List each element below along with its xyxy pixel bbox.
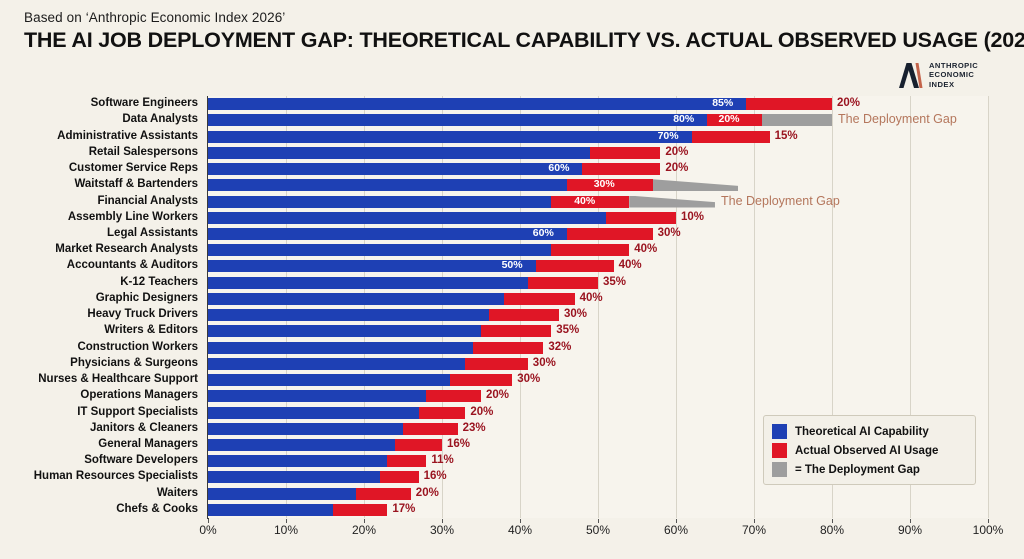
bar-theoretical-capability[interactable] <box>208 147 590 159</box>
x-tick-label: 60% <box>664 523 688 537</box>
x-tick-label: 10% <box>274 523 298 537</box>
bar-actual-usage[interactable] <box>387 455 426 467</box>
value-label-actual: 23% <box>463 422 486 435</box>
bar-theoretical-capability[interactable] <box>208 309 489 321</box>
legend-swatch-theoretical <box>772 424 787 439</box>
value-label-actual: 20% <box>837 97 860 110</box>
chart-subtitle: Based on ‘Anthropic Economic Index 2026’ <box>24 10 285 25</box>
value-label-actual: 20% <box>470 406 493 419</box>
brand-wordmark: ANTHROPIC ECONOMIC INDEX <box>929 61 978 89</box>
x-tick-label: 80% <box>820 523 844 537</box>
value-label-actual: 30% <box>533 357 556 370</box>
bar-row[interactable]: 60%20% <box>208 163 988 175</box>
category-label: Janitors & Cleaners <box>90 422 198 434</box>
category-label: Data Analysts <box>122 113 198 125</box>
value-label-actual: 35% <box>603 276 626 289</box>
bar-actual-usage[interactable] <box>590 147 660 159</box>
value-label-actual: 40% <box>574 195 595 208</box>
value-label-theoretical: 60% <box>533 227 554 240</box>
chart-root: Based on ‘Anthropic Economic Index 2026’… <box>0 0 1024 559</box>
bar-theoretical-capability[interactable] <box>208 277 528 289</box>
category-label: Heavy Truck Drivers <box>87 308 198 320</box>
value-label-actual: 10% <box>681 211 704 224</box>
bar-theoretical-capability[interactable] <box>208 131 692 143</box>
category-label: Graphic Designers <box>96 292 198 304</box>
bar-theoretical-capability[interactable] <box>208 212 606 224</box>
value-label-theoretical: 70% <box>658 130 679 143</box>
value-label-actual: 16% <box>447 438 470 451</box>
category-label: Market Research Analysts <box>55 243 198 255</box>
bar-actual-usage[interactable] <box>489 309 559 321</box>
value-label-actual: 20% <box>665 146 688 159</box>
legend-label-actual: Actual Observed AI Usage <box>795 445 938 457</box>
brand-line-3: INDEX <box>929 80 978 89</box>
bar-theoretical-capability[interactable] <box>208 179 567 191</box>
category-label: Chefs & Cooks <box>116 503 198 515</box>
category-label: Waiters <box>157 487 198 499</box>
bar-actual-usage[interactable] <box>582 163 660 175</box>
deployment-gap-annotation: The Deployment Gap <box>838 112 957 126</box>
x-tick-label: 50% <box>586 523 610 537</box>
x-tick-label: 70% <box>742 523 766 537</box>
category-label: Administrative Assistants <box>57 130 198 142</box>
bar-row[interactable]: 35% <box>208 325 988 337</box>
category-label: Operations Managers <box>80 389 198 401</box>
legend-label-theoretical: Theoretical AI Capability <box>795 426 929 438</box>
bar-theoretical-capability[interactable] <box>208 98 746 110</box>
legend-swatch-actual <box>772 443 787 458</box>
bar-actual-usage[interactable] <box>692 131 770 143</box>
bar-theoretical-capability[interactable] <box>208 342 473 354</box>
bar-row[interactable]: 20% <box>208 390 988 402</box>
category-label: Construction Workers <box>77 341 198 353</box>
bar-theoretical-capability[interactable] <box>208 114 707 126</box>
category-label: Customer Service Reps <box>69 162 198 174</box>
value-label-actual: 20% <box>416 487 439 500</box>
bar-theoretical-capability[interactable] <box>208 358 465 370</box>
x-tick-label: 40% <box>508 523 532 537</box>
bar-actual-usage[interactable] <box>380 471 419 483</box>
category-label: Software Engineers <box>91 97 198 109</box>
value-label-actual: 35% <box>556 324 579 337</box>
value-label-actual: 30% <box>658 227 681 240</box>
bar-actual-usage[interactable] <box>606 212 676 224</box>
bar-actual-usage[interactable] <box>333 504 388 516</box>
deployment-gap-wedge <box>762 114 832 126</box>
deployment-gap-wedge <box>629 196 715 208</box>
bar-theoretical-capability[interactable] <box>208 163 582 175</box>
bar-row[interactable]: 32% <box>208 342 988 354</box>
bar-theoretical-capability[interactable] <box>208 260 536 272</box>
bar-row[interactable]: 20% <box>208 488 988 500</box>
category-label: K-12 Teachers <box>120 276 198 288</box>
brand-line-1: ANTHROPIC <box>929 61 978 70</box>
bar-row[interactable]: 60%30% <box>208 228 988 240</box>
bar-actual-usage[interactable] <box>450 374 512 386</box>
bar-theoretical-capability[interactable] <box>208 504 333 516</box>
x-axis: 0%10%20%30%40%50%60%70%80%90%100% <box>208 519 988 549</box>
legend-label-gap: = The Deployment Gap <box>795 464 920 476</box>
deployment-gap-annotation: The Deployment Gap <box>721 194 840 208</box>
x-tick-label: 20% <box>352 523 376 537</box>
value-label-actual: 40% <box>619 259 642 272</box>
bar-row[interactable]: 10% <box>208 212 988 224</box>
chart-title: THE AI JOB DEPLOYMENT GAP: THEORETICAL C… <box>24 28 1024 53</box>
value-label-theoretical: 80% <box>673 113 694 126</box>
value-label-actual: 32% <box>548 341 571 354</box>
category-label: Nurses & Healthcare Support <box>38 373 198 385</box>
x-tick-label: 30% <box>430 523 454 537</box>
bar-theoretical-capability[interactable] <box>208 455 387 467</box>
bar-actual-usage[interactable] <box>551 244 629 256</box>
bar-theoretical-capability[interactable] <box>208 423 403 435</box>
legend-item: Theoretical AI Capability <box>772 422 967 441</box>
category-label: IT Support Specialists <box>77 406 198 418</box>
bar-row[interactable]: 40% <box>208 196 988 208</box>
legend-item: Actual Observed AI Usage <box>772 441 967 460</box>
value-label-actual: 20% <box>665 162 688 175</box>
bar-row[interactable]: 85%20% <box>208 98 988 110</box>
bar-theoretical-capability[interactable] <box>208 374 450 386</box>
deployment-gap-wedge <box>653 179 739 191</box>
category-axis-labels: Software EngineersData AnalystsAdministr… <box>0 96 204 518</box>
anthropic-logo-icon <box>897 60 923 90</box>
value-label-actual: 30% <box>517 373 540 386</box>
value-label-actual: 20% <box>719 113 740 126</box>
category-label: Assembly Line Workers <box>68 211 198 223</box>
category-label: Waitstaff & Bartenders <box>74 178 198 190</box>
value-label-actual: 15% <box>775 130 798 143</box>
x-tick-label: 100% <box>973 523 1004 537</box>
bar-row[interactable]: 70%15% <box>208 131 988 143</box>
bar-row[interactable]: 17% <box>208 504 988 516</box>
bar-theoretical-capability[interactable] <box>208 471 380 483</box>
category-label: Financial Analysts <box>97 195 198 207</box>
bar-actual-usage[interactable] <box>395 439 442 451</box>
value-label-actual: 11% <box>431 454 453 467</box>
value-label-theoretical: 50% <box>502 259 523 272</box>
brand-line-2: ECONOMIC <box>929 70 978 79</box>
value-label-theoretical: 85% <box>712 97 733 110</box>
bar-actual-usage[interactable] <box>528 277 598 289</box>
bar-actual-usage[interactable] <box>567 228 653 240</box>
value-label-actual: 17% <box>392 503 415 516</box>
category-label: Physicians & Surgeons <box>70 357 198 369</box>
category-label: Retail Salespersons <box>89 146 198 158</box>
gridline <box>988 96 989 518</box>
anthropic-economic-index-logo: ANTHROPIC ECONOMIC INDEX <box>897 60 978 90</box>
bar-row[interactable]: 35% <box>208 277 988 289</box>
value-label-theoretical: 60% <box>548 162 569 175</box>
bar-row[interactable]: 30% <box>208 309 988 321</box>
bar-actual-usage[interactable] <box>465 358 527 370</box>
category-label: Software Developers <box>84 454 198 466</box>
legend-item: = The Deployment Gap <box>772 460 967 479</box>
bar-theoretical-capability[interactable] <box>208 488 356 500</box>
bar-theoretical-capability[interactable] <box>208 325 481 337</box>
bar-theoretical-capability[interactable] <box>208 390 426 402</box>
value-label-actual: 40% <box>580 292 603 305</box>
bar-row[interactable]: 30% <box>208 374 988 386</box>
x-tick-label: 90% <box>898 523 922 537</box>
bar-row[interactable]: 20% <box>208 147 988 159</box>
bar-row[interactable]: 50%40% <box>208 260 988 272</box>
bar-theoretical-capability[interactable] <box>208 407 419 419</box>
bar-actual-usage[interactable] <box>481 325 551 337</box>
bar-row[interactable]: 40% <box>208 293 988 305</box>
bar-actual-usage[interactable] <box>746 98 832 110</box>
bar-row[interactable]: 30% <box>208 179 988 191</box>
category-label: Legal Assistants <box>107 227 198 239</box>
category-label: General Managers <box>98 438 198 450</box>
bar-actual-usage[interactable] <box>403 423 458 435</box>
bar-theoretical-capability[interactable] <box>208 293 504 305</box>
bar-actual-usage[interactable] <box>473 342 543 354</box>
legend: Theoretical AI Capability Actual Observe… <box>763 415 976 485</box>
value-label-actual: 30% <box>564 308 587 321</box>
bar-row[interactable]: 30% <box>208 358 988 370</box>
bar-actual-usage[interactable] <box>504 293 574 305</box>
category-label: Writers & Editors <box>104 324 198 336</box>
value-label-actual: 16% <box>424 470 447 483</box>
bar-actual-usage[interactable] <box>426 390 481 402</box>
bar-actual-usage[interactable] <box>419 407 466 419</box>
legend-swatch-gap <box>772 462 787 477</box>
bar-theoretical-capability[interactable] <box>208 244 551 256</box>
bar-theoretical-capability[interactable] <box>208 439 395 451</box>
bar-actual-usage[interactable] <box>356 488 411 500</box>
x-tick-label: 0% <box>199 523 216 537</box>
category-label: Human Resources Specialists <box>34 470 198 482</box>
value-label-actual: 30% <box>594 178 615 191</box>
bar-row[interactable]: 40% <box>208 244 988 256</box>
bar-actual-usage[interactable] <box>536 260 614 272</box>
value-label-actual: 40% <box>634 243 657 256</box>
value-label-actual: 20% <box>486 389 509 402</box>
category-label: Accountants & Auditors <box>67 259 198 271</box>
bar-theoretical-capability[interactable] <box>208 228 567 240</box>
bar-theoretical-capability[interactable] <box>208 196 551 208</box>
